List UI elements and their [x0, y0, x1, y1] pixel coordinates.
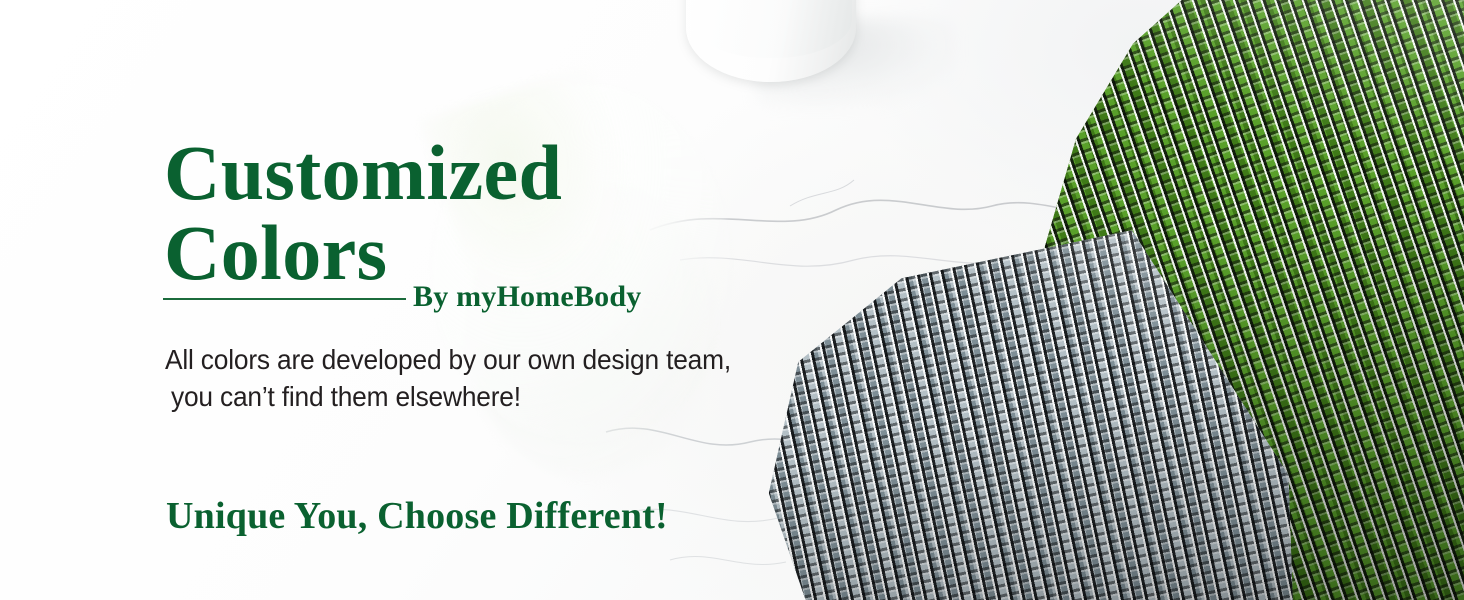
- brand-byline-row: By myHomeBody: [163, 290, 637, 324]
- brand-byline: By myHomeBody: [413, 280, 641, 314]
- body-copy-line-2: you can’t find them elsewhere!: [171, 381, 521, 413]
- slogan-text: Unique You, Choose Different!: [166, 494, 668, 538]
- headline-line-1: Customized: [164, 134, 562, 212]
- banner-text-block: Customized Colors By myHomeBody All colo…: [0, 0, 760, 600]
- body-copy-line-1: All colors are developed by our own desi…: [165, 344, 731, 376]
- headline-line-2: Colors: [164, 214, 387, 292]
- brand-divider-rule: [163, 298, 406, 300]
- promo-banner: Customized Colors By myHomeBody All colo…: [0, 0, 1464, 600]
